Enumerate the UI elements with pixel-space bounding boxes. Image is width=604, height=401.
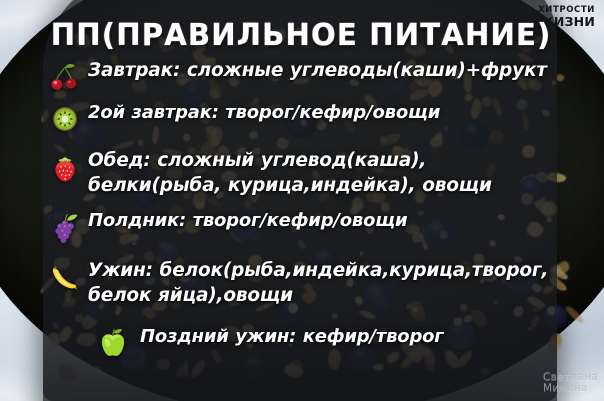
meal-text: 2ой завтрак: творог/кефир/овощи (88, 100, 560, 125)
author-signature: Светлана Минина (543, 372, 598, 396)
meal-text: Поздний ужин: кефир/творог (140, 324, 560, 349)
grapes-icon (48, 210, 82, 244)
signature-line-2: Минина (543, 383, 598, 395)
list-item: Обед: сложный углевод(каша), белки(рыба,… (48, 148, 560, 198)
page-title: ПП(ПРАВИЛЬНОЕ ПИТАНИЕ) (51, 18, 550, 53)
green-apple-icon (96, 326, 130, 360)
banana-icon (48, 260, 82, 294)
list-item: 2ой завтрак: творог/кефир/овощи (48, 100, 560, 136)
poster: ХИТРОСТИ ЖИЗНИ ПП(ПРАВИЛЬНОЕ ПИТАНИЕ) (0, 0, 604, 401)
strawberry-icon (48, 150, 82, 184)
list-item: Ужин: белок(рыба,индейка,курица,творог, … (48, 258, 560, 308)
list-item: Полдник: творог/кефир/овощи (48, 208, 560, 244)
cherry-icon (48, 60, 82, 94)
list-item: Поздний ужин: кефир/творог (48, 324, 560, 360)
meal-text: Завтрак: сложные углеводы(каши)+фрукт (88, 58, 560, 83)
meal-text: Ужин: белок(рыба,индейка,курица,творог, … (88, 258, 560, 308)
kiwi-icon (48, 102, 82, 136)
meal-text: Полдник: творог/кефир/овощи (88, 208, 560, 233)
meal-text: Обед: сложный углевод(каша), белки(рыба,… (88, 148, 560, 198)
list-item: Завтрак: сложные углеводы(каши)+фрукт (48, 58, 560, 94)
meal-list: Завтрак: сложные углеводы(каши)+фрукт (48, 58, 560, 362)
